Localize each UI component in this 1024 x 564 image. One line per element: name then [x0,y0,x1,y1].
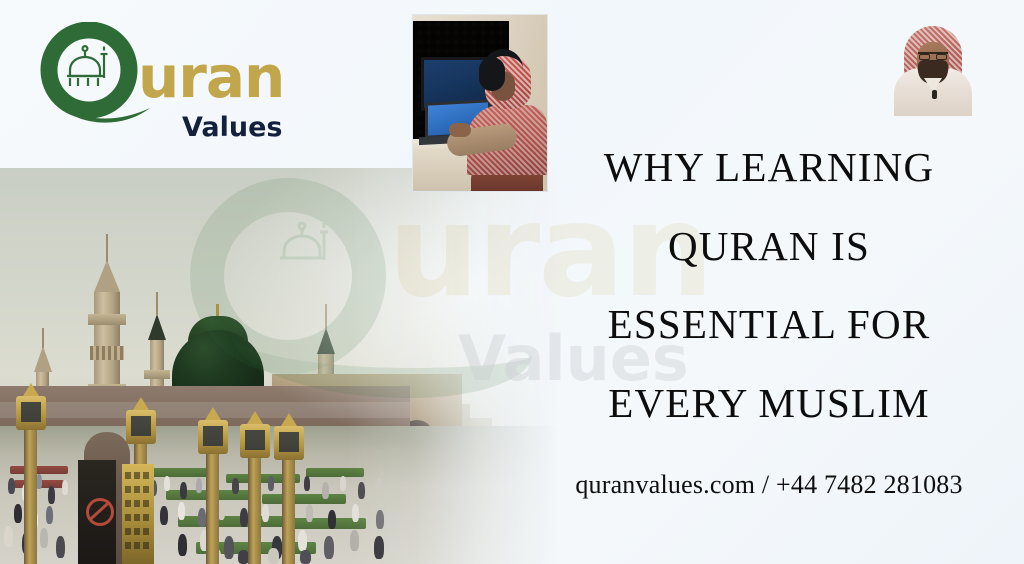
headline-line-2: QURAN IS [550,207,988,286]
student-learning-photo [412,14,548,192]
scholar-glasses [918,52,948,60]
mosque-haze-overlay [0,168,560,564]
brand-logo[interactable]: uran Values [26,22,286,140]
headline-line-3: ESSENTIAL FOR [550,285,988,364]
contact-info[interactable]: quranvalues.com / +44 7482 281083 [550,470,988,500]
brand-wordmark: uran [138,48,284,106]
promo-banner: uran Values uran Values [0,0,1024,564]
prophets-mosque-background [0,168,560,564]
lapel-microphone-icon [932,90,937,99]
mosque-glyph [67,46,108,86]
scholar-portrait-photo [884,16,980,114]
student-hand [449,123,471,137]
headline-line-4: EVERY MUSLIM [550,364,988,443]
brand-tagline: Values [182,114,283,141]
headline-line-1: WHY LEARNING [550,128,988,207]
headphones-earcup [479,57,505,91]
page-title: WHY LEARNING QURAN IS ESSENTIAL FOR EVER… [550,128,988,443]
